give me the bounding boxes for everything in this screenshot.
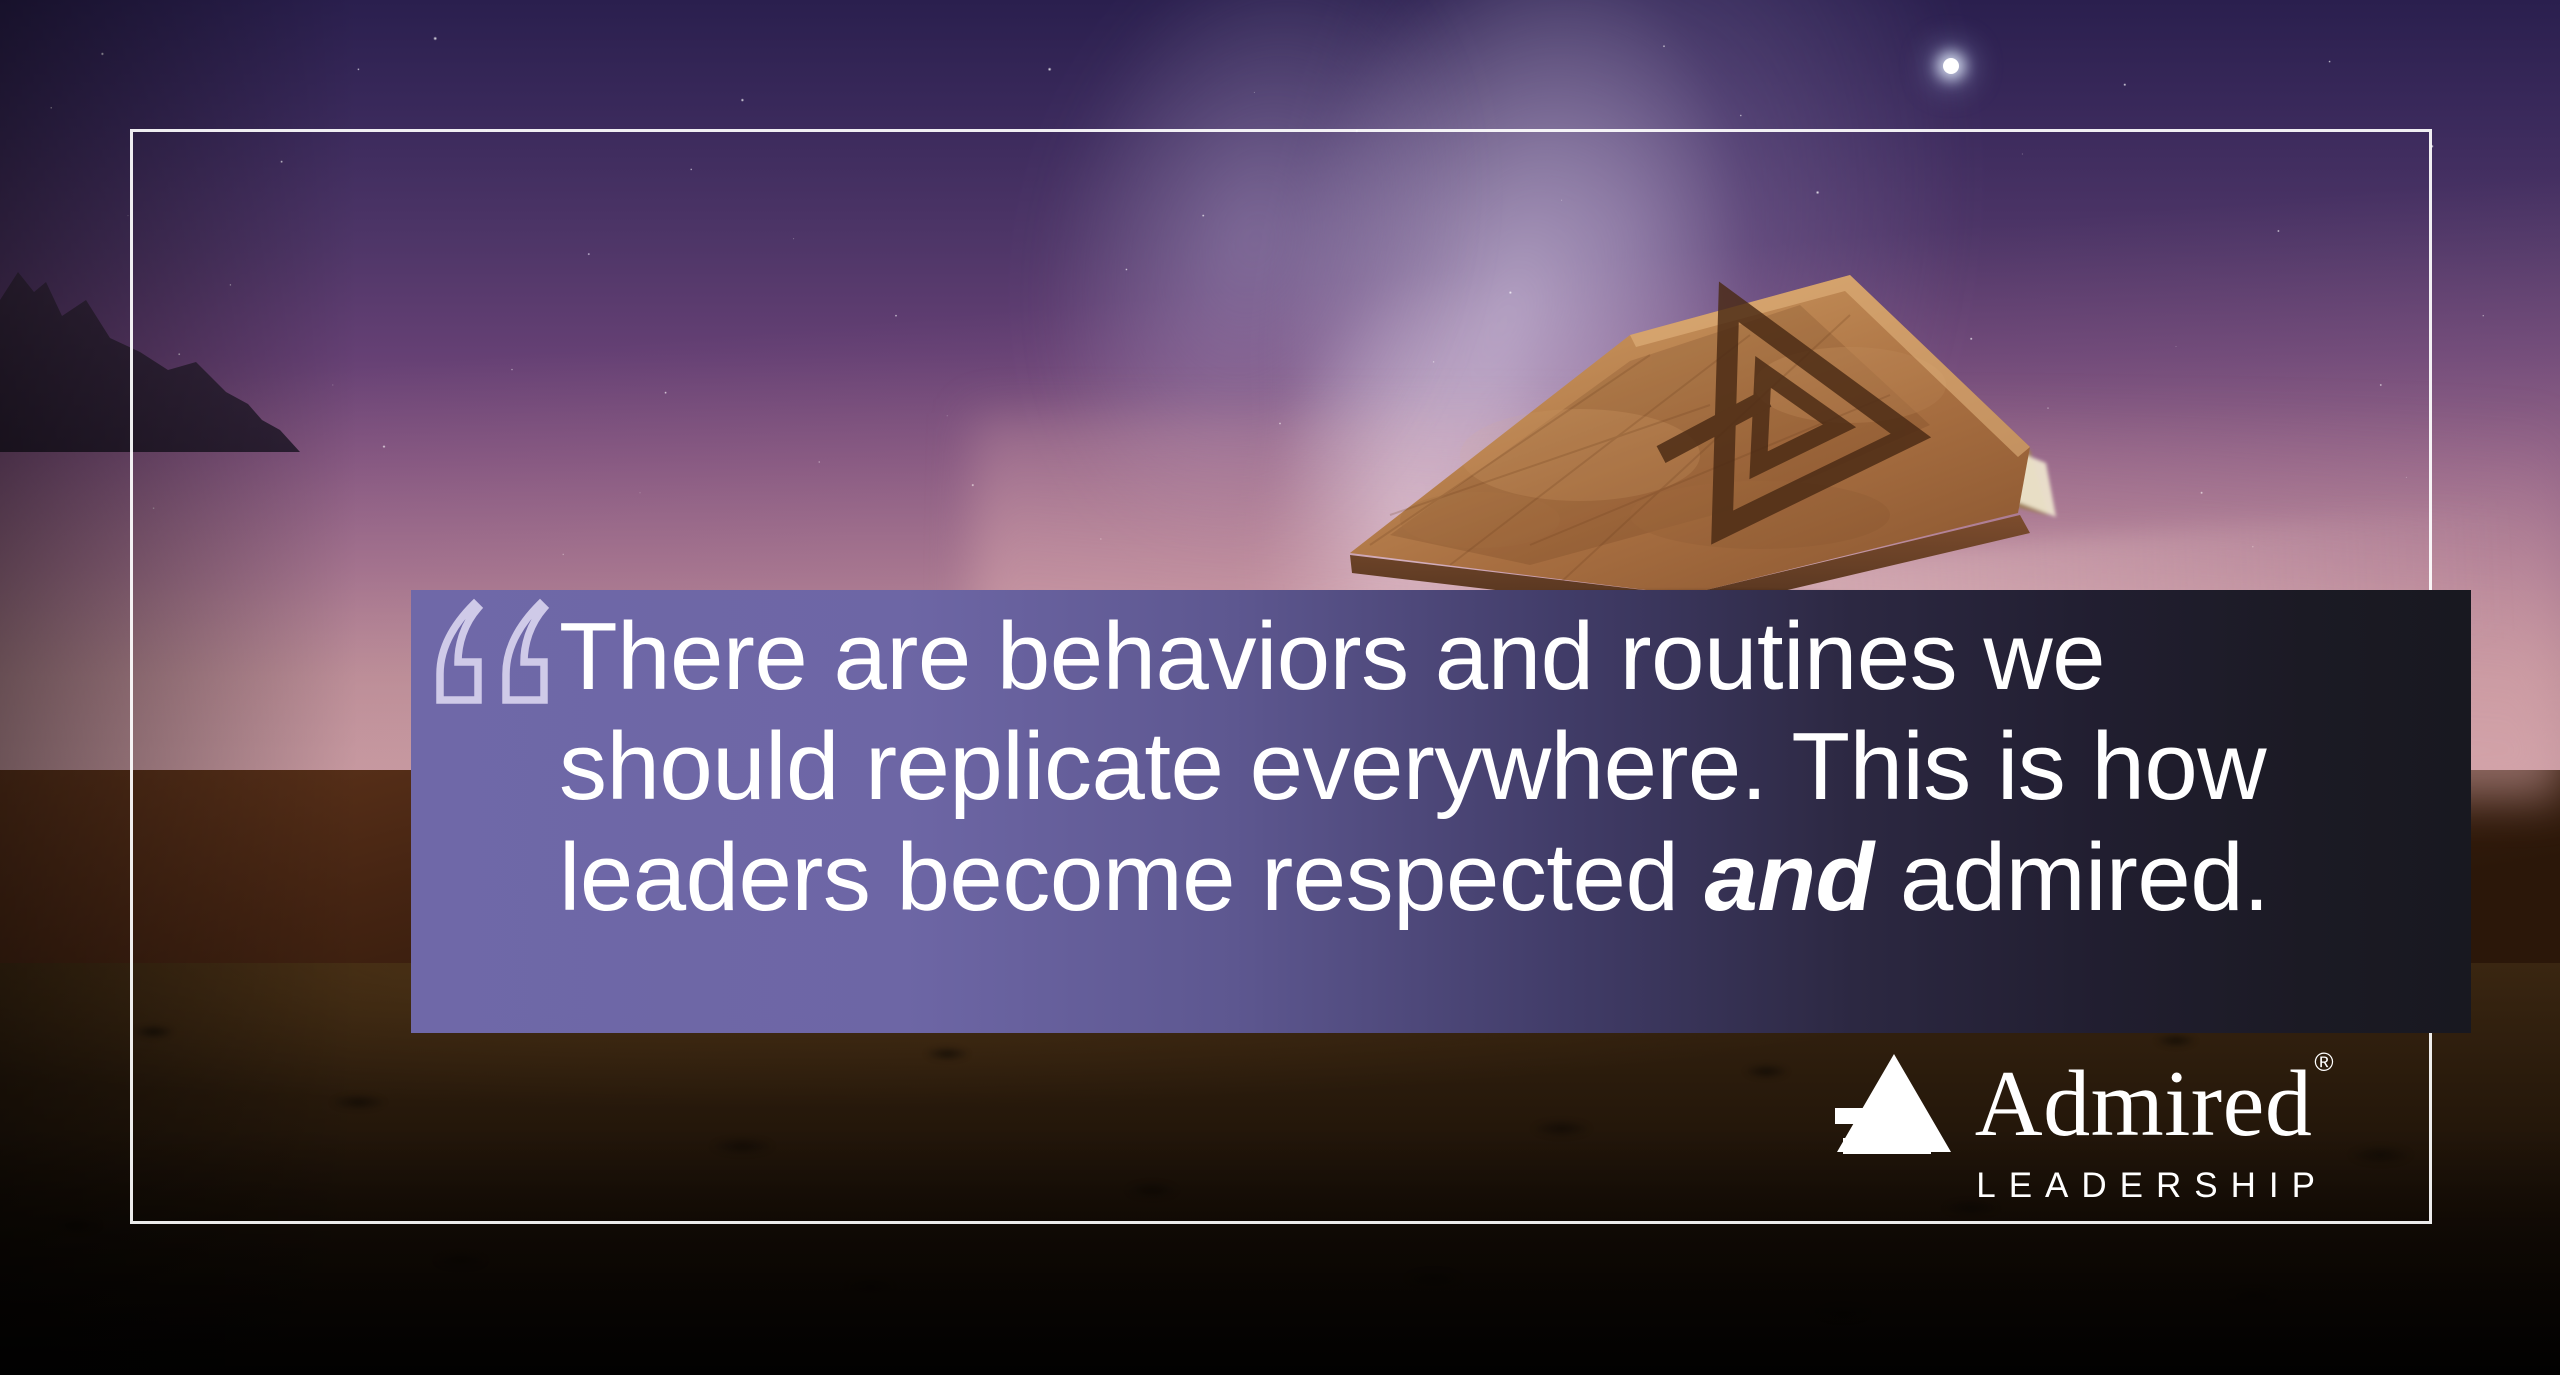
brand-logo: Admired® LEADERSHIP <box>1796 1052 2332 1200</box>
left-vignette <box>0 0 358 1375</box>
quote-card: There are behaviors and routines we shou… <box>0 0 2560 1375</box>
quote-line-1: There are behaviors and routines we <box>559 602 2459 712</box>
logo-subtitle: LEADERSHIP <box>1976 1166 2328 1206</box>
quote-line-3: leaders become respected and admired. <box>559 823 2459 933</box>
admired-triangle-mark-icon <box>1835 1052 1953 1156</box>
logo-wordmark: Admired® <box>1975 1057 2332 1151</box>
quote-line-3-post: admired. <box>1874 824 2270 931</box>
quote-panel: There are behaviors and routines we shou… <box>411 590 2471 1033</box>
logo-primary-row: Admired® <box>1835 1052 2332 1156</box>
quotation-mark-icon <box>428 596 556 708</box>
quote-line-3-pre: leaders become respected <box>559 824 1705 931</box>
quote-text: There are behaviors and routines we shou… <box>559 602 2459 933</box>
quote-emphasis-and: and <box>1705 824 1874 931</box>
logo-wordmark-text: Admired <box>1975 1052 2313 1156</box>
quote-line-2: should replicate everywhere. This is how <box>559 712 2459 822</box>
leather-book <box>1330 265 2120 615</box>
registered-trademark-icon: ® <box>2314 1047 2334 1077</box>
